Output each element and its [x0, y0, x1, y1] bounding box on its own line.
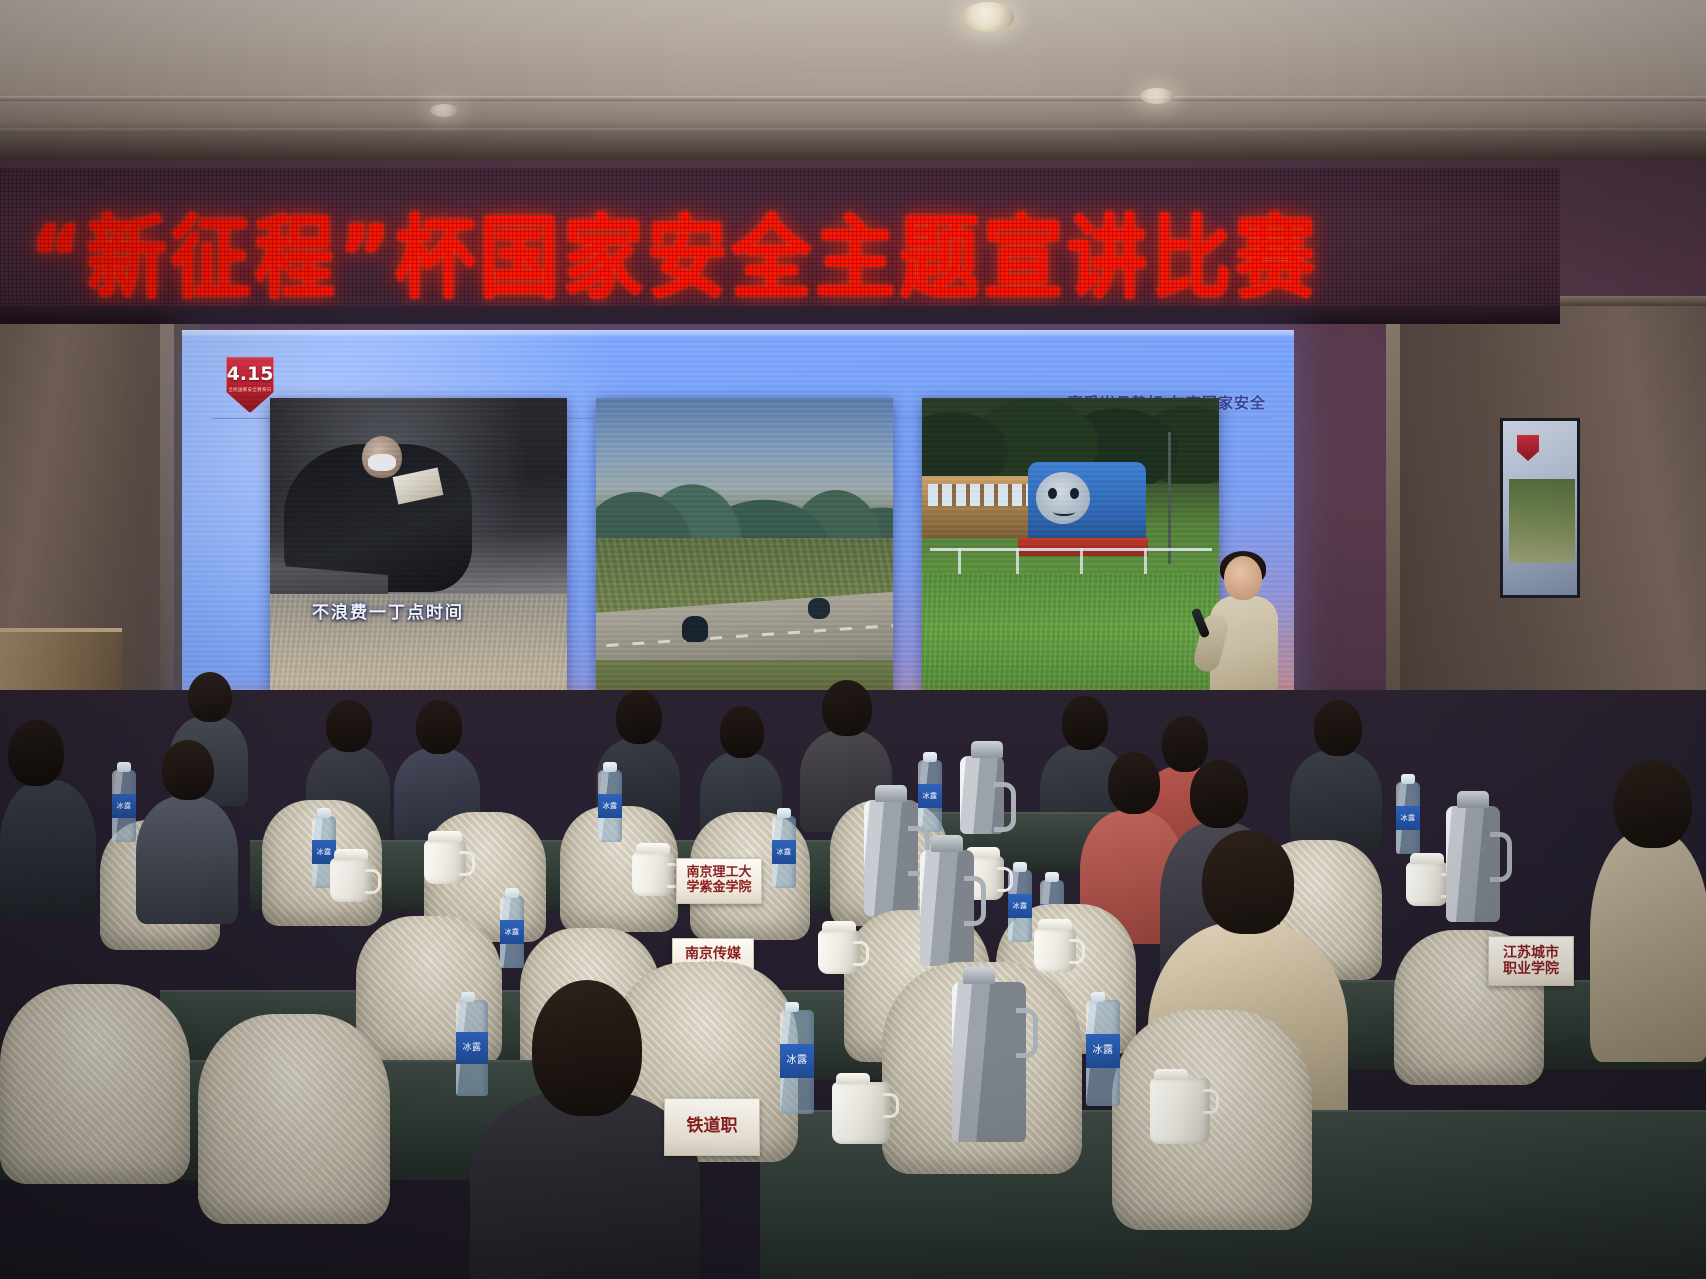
bottle-brand: 冰露 — [500, 920, 524, 944]
audience-person-foreground — [1590, 760, 1706, 1060]
badge-subtitle: 全民国家安全教育日 — [228, 387, 271, 393]
tea-cup — [1034, 928, 1076, 972]
ceiling-beam — [0, 96, 1706, 101]
photo-lawn — [922, 574, 1219, 698]
water-bottle: 冰露 — [918, 760, 942, 832]
person-head — [1314, 700, 1362, 756]
photo-figure — [284, 444, 472, 592]
photo-train-eye — [1070, 488, 1079, 499]
slide-photo-row: 不浪费一丁点时间 — [270, 398, 1220, 698]
slide-photo-countryside — [596, 398, 893, 698]
bottle-label: 冰露 — [112, 794, 136, 818]
person-head — [720, 706, 764, 758]
photo-train-coach — [922, 476, 1034, 538]
chair — [0, 984, 190, 1184]
photo-road-marking — [606, 624, 893, 647]
water-bottle: 冰露 — [456, 1000, 488, 1096]
banner-bottom-edge — [0, 306, 1560, 324]
projector-glow — [182, 330, 682, 710]
photo-book — [393, 468, 444, 505]
photo-face-mask — [368, 454, 396, 471]
bottle-brand: 冰露 — [456, 1032, 488, 1064]
photo-treeline — [922, 398, 1219, 484]
tea-cup — [424, 840, 466, 884]
person-body — [136, 796, 238, 924]
bottle-label: 冰露 — [918, 784, 942, 808]
ceiling-light — [1140, 88, 1174, 104]
ceiling-light — [962, 2, 1014, 32]
photo-train-face — [1036, 472, 1090, 524]
bottle-label: 冰露 — [780, 1044, 814, 1078]
bottle-label: 冰露 — [598, 794, 622, 818]
placard-line2: 学紫金学院 — [686, 881, 751, 896]
conference-hall-photo: “新征程”杯国家安全主题宣讲比赛 4.15 全民国家安全教育日 享受岁月静好 勿… — [0, 0, 1706, 1279]
badge-date-number: 4.15 — [227, 365, 274, 384]
photo-scooter — [808, 598, 830, 619]
person-head — [1190, 760, 1248, 828]
vacuum-flask — [1446, 806, 1500, 922]
person-head — [416, 700, 462, 754]
ceiling-light — [430, 104, 458, 117]
photo-train-base — [1018, 538, 1148, 556]
person-head — [8, 720, 64, 786]
water-bottle: 冰露 — [1008, 870, 1032, 942]
bottle-brand: 冰露 — [112, 794, 136, 818]
photo-rice-field — [596, 538, 893, 648]
person-head — [1614, 760, 1692, 848]
slide-divider — [212, 418, 1270, 419]
photo-train-eye — [1048, 488, 1057, 499]
person-head — [326, 700, 372, 752]
placard-line1: 南京传媒 — [685, 946, 741, 962]
chair — [1112, 1010, 1312, 1230]
placard-line2: 职业学院 — [1503, 961, 1559, 977]
screen-top-highlight — [182, 330, 1294, 338]
person-head — [532, 980, 642, 1116]
slide-photo-train-lawn — [922, 398, 1219, 698]
led-banner: “新征程”杯国家安全主题宣讲比赛 — [0, 168, 1560, 320]
bottle-brand: 冰露 — [1396, 806, 1420, 830]
water-bottle: 冰露 — [500, 896, 524, 968]
bottle-brand: 冰露 — [780, 1044, 814, 1078]
photo-ground — [270, 594, 567, 698]
bottle-brand: 冰露 — [1086, 1034, 1120, 1068]
tea-cup — [1150, 1078, 1210, 1144]
photo-coach-windows — [928, 484, 1028, 506]
national-security-day-badge: 4.15 全民国家安全教育日 — [226, 357, 274, 413]
bottle-label: 冰露 — [1008, 894, 1032, 918]
water-bottle: 冰露 — [598, 770, 622, 842]
water-bottle: 冰露 — [780, 1010, 814, 1114]
wall-pillar — [1386, 300, 1400, 750]
vacuum-flask — [952, 982, 1026, 1142]
placard-line1: 南京理工大 — [686, 866, 751, 881]
vacuum-flask — [864, 800, 918, 916]
vacuum-flask — [920, 850, 974, 966]
photo-blue-locomotive — [1028, 462, 1146, 542]
photo-karst-hills — [596, 454, 893, 546]
slide-slogan: 享受岁月静好 勿忘国家安全 — [1068, 392, 1266, 413]
person-head — [188, 672, 232, 722]
water-bottle: 冰露 — [772, 816, 796, 888]
table-placard-jscu: 江苏城市 职业学院 — [1488, 936, 1574, 986]
bottle-brand: 冰露 — [772, 840, 796, 864]
photo-train-mouth — [1053, 508, 1075, 516]
photo-caption: 不浪费一丁点时间 — [312, 598, 532, 623]
placard-line1: 江苏城市 — [1503, 945, 1559, 961]
water-bottle: 冰露 — [112, 770, 136, 842]
speaker-head — [1224, 556, 1262, 600]
bottle-label: 冰露 — [772, 840, 796, 864]
person-head — [1202, 830, 1294, 934]
bottle-label: 冰露 — [1086, 1034, 1120, 1068]
water-bottle: 冰露 — [1086, 1000, 1120, 1106]
photo-head — [362, 436, 402, 478]
photo-fence — [930, 548, 1212, 578]
side-monitor — [1500, 418, 1580, 598]
bottle-brand: 冰露 — [1008, 894, 1032, 918]
tea-cup — [1406, 862, 1448, 906]
tea-cup — [818, 930, 860, 974]
photo-utility-pole — [1168, 432, 1171, 564]
tea-cup — [832, 1082, 890, 1144]
side-monitor-image — [1509, 479, 1575, 563]
bottle-brand: 冰露 — [918, 784, 942, 808]
person-body — [1590, 830, 1706, 1062]
ceiling — [0, 0, 1706, 170]
projection-screen-frame: 4.15 全民国家安全教育日 享受岁月静好 勿忘国家安全 不浪费一丁点时间 — [182, 330, 1294, 750]
photo-step — [270, 565, 388, 627]
person-head — [1062, 696, 1108, 750]
banner-title: “新征程”杯国家安全主题宣讲比赛 — [30, 186, 1440, 316]
slide-photo-reading: 不浪费一丁点时间 — [270, 398, 567, 698]
bottle-label: 冰露 — [500, 920, 524, 944]
vacuum-flask — [960, 756, 1004, 834]
placard-line1: 铁道职 — [687, 1117, 738, 1137]
audience-person — [1290, 700, 1382, 850]
table-placard-railway: 铁道职 — [664, 1098, 760, 1156]
tea-cup — [330, 858, 372, 902]
photo-scooter — [682, 616, 708, 642]
person-head — [616, 690, 662, 744]
person-head — [162, 740, 214, 800]
audience-person — [136, 740, 238, 920]
bottle-brand: 冰露 — [598, 794, 622, 818]
projection-screen: 4.15 全民国家安全教育日 享受岁月静好 勿忘国家安全 不浪费一丁点时间 — [182, 330, 1294, 750]
water-bottle: 冰露 — [1396, 782, 1420, 854]
bottle-label: 冰露 — [456, 1032, 488, 1064]
person-head — [822, 680, 872, 736]
side-monitor-badge-icon — [1517, 435, 1539, 461]
person-body — [0, 780, 96, 922]
audience-person — [0, 720, 96, 920]
bottle-label: 冰露 — [1396, 806, 1420, 830]
person-head — [1108, 752, 1160, 814]
table-placard-njust-zijin: 南京理工大 学紫金学院 — [676, 858, 762, 904]
chair — [198, 1014, 390, 1224]
tea-cup — [632, 852, 674, 896]
